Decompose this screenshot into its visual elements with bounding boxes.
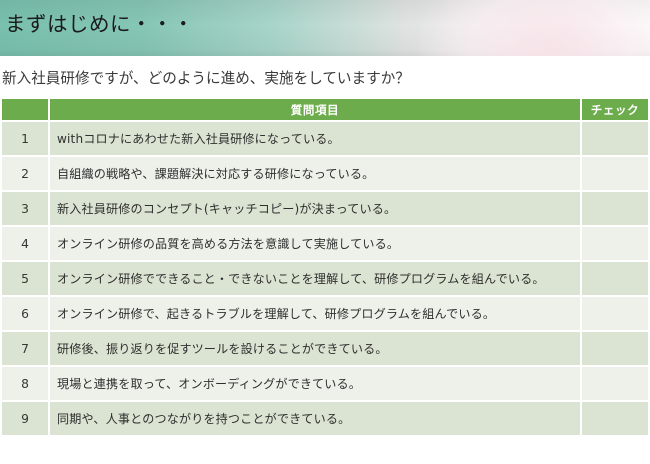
row-question: オンライン研修で、起きるトラブルを理解して、研修プログラムを組んでいる。 xyxy=(50,297,580,330)
lead-question-text: 新入社員研修ですが、どのように進め、実施をしていますか？ xyxy=(2,69,410,89)
table-row: 6 オンライン研修で、起きるトラブルを理解して、研修プログラムを組んでいる。 xyxy=(2,297,648,330)
table-row: 1 withコロナにあわせた新入社員研修になっている。 xyxy=(2,122,648,155)
row-question: withコロナにあわせた新入社員研修になっている。 xyxy=(50,122,580,155)
row-number: 7 xyxy=(2,332,48,365)
row-check-cell[interactable] xyxy=(582,332,648,365)
checklist-table: 質問項目 チェック 1 withコロナにあわせた新入社員研修になっている。 2 … xyxy=(0,97,650,437)
row-question: 自組織の戦略や、課題解決に対応する研修になっている。 xyxy=(50,157,580,190)
column-header-check: チェック xyxy=(582,99,648,120)
table-row: 9 同期や、人事とのつながりを持つことができている。 xyxy=(2,402,648,435)
row-check-cell[interactable] xyxy=(582,227,648,260)
table-row: 3 新入社員研修のコンセプト(キャッチコピー)が決まっている。 xyxy=(2,192,648,225)
table-row: 5 オンライン研修でできること・できないことを理解して、研修プログラムを組んでい… xyxy=(2,262,648,295)
table-row: 2 自組織の戦略や、課題解決に対応する研修になっている。 xyxy=(2,157,648,190)
row-check-cell[interactable] xyxy=(582,297,648,330)
row-number: 4 xyxy=(2,227,48,260)
row-check-cell[interactable] xyxy=(582,157,648,190)
checklist-table-head: 質問項目 チェック xyxy=(2,99,648,120)
row-question: 同期や、人事とのつながりを持つことができている。 xyxy=(50,402,580,435)
column-header-question-item: 質問項目 xyxy=(50,99,580,120)
row-number: 8 xyxy=(2,367,48,400)
row-check-cell[interactable] xyxy=(582,367,648,400)
row-check-cell[interactable] xyxy=(582,262,648,295)
table-row: 4 オンライン研修の品質を高める方法を意識して実施している。 xyxy=(2,227,648,260)
slide-title-band: まずはじめに・・・ xyxy=(0,0,650,56)
row-number: 9 xyxy=(2,402,48,435)
column-header-number xyxy=(2,99,48,120)
row-number: 1 xyxy=(2,122,48,155)
row-check-cell[interactable] xyxy=(582,122,648,155)
checklist-table-body: 1 withコロナにあわせた新入社員研修になっている。 2 自組織の戦略や、課題… xyxy=(2,122,648,435)
row-question: オンライン研修でできること・できないことを理解して、研修プログラムを組んでいる。 xyxy=(50,262,580,295)
row-number: 2 xyxy=(2,157,48,190)
table-row: 7 研修後、振り返りを促すツールを設けることができている。 xyxy=(2,332,648,365)
table-header-row: 質問項目 チェック xyxy=(2,99,648,120)
row-question: 現場と連携を取って、オンボーディングができている。 xyxy=(50,367,580,400)
row-question: 研修後、振り返りを促すツールを設けることができている。 xyxy=(50,332,580,365)
page-title: まずはじめに・・・ xyxy=(5,11,194,37)
row-check-cell[interactable] xyxy=(582,192,648,225)
row-question: 新入社員研修のコンセプト(キャッチコピー)が決まっている。 xyxy=(50,192,580,225)
row-number: 6 xyxy=(2,297,48,330)
row-number: 5 xyxy=(2,262,48,295)
table-row: 8 現場と連携を取って、オンボーディングができている。 xyxy=(2,367,648,400)
row-question: オンライン研修の品質を高める方法を意識して実施している。 xyxy=(50,227,580,260)
decorative-pink-bloom xyxy=(420,0,650,56)
row-number: 3 xyxy=(2,192,48,225)
row-check-cell[interactable] xyxy=(582,402,648,435)
